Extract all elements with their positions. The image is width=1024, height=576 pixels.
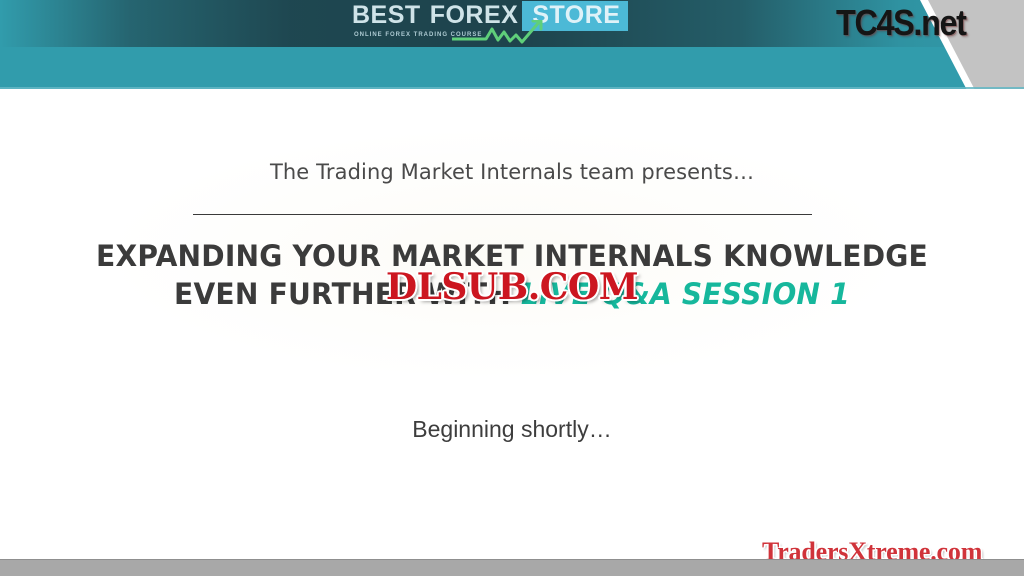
headline-line-1: EXPANDING YOUR MARKET INTERNALS KNOWLEDG…	[15, 237, 1008, 275]
slide-body: The Trading Market Internals team presen…	[0, 89, 1024, 559]
headline-line-2-static: EVEN FURTHER WITH	[174, 277, 521, 311]
logo-word-best: BEST	[352, 2, 421, 29]
best-forex-store-logo: BEST FOREX STORE ONLINE FOREX TRADING CO…	[352, 2, 662, 46]
headline-line-2: EVEN FURTHER WITH LIVE Q&A SESSION 1	[15, 275, 1008, 313]
status-text: Beginning shortly…	[0, 416, 1024, 443]
slide-headline: EXPANDING YOUR MARKET INTERNALS KNOWLEDG…	[15, 237, 1008, 313]
presenter-line: The Trading Market Internals team presen…	[0, 160, 1024, 184]
bottom-gray-bar	[0, 559, 1024, 576]
bottom-bar-top-edge	[0, 559, 1024, 560]
presentation-slide-screen: BEST FOREX STORE ONLINE FOREX TRADING CO…	[0, 0, 1024, 576]
tc4s-watermark: TC4S.net	[836, 2, 966, 44]
title-divider-rule	[193, 214, 812, 215]
headline-line-2-accent: LIVE Q&A SESSION 1	[521, 277, 850, 311]
rising-chart-line-icon	[452, 20, 552, 46]
